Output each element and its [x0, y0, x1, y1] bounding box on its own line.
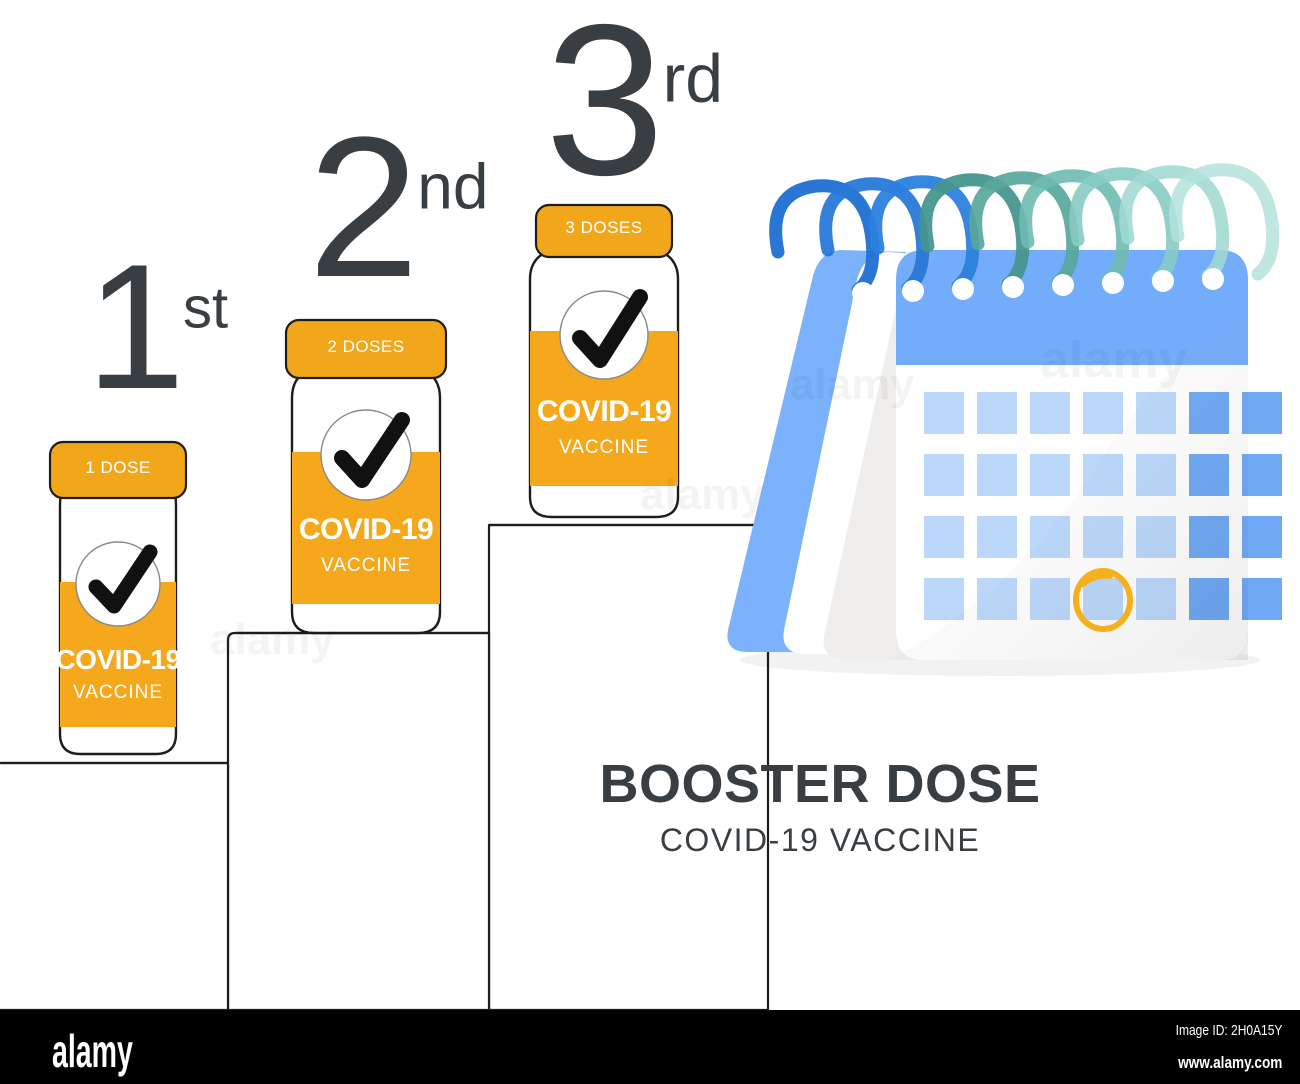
rank-label-2: 2nd: [308, 108, 488, 308]
rank-suffix-3: rd: [663, 40, 723, 116]
calendar-cell: [977, 392, 1017, 434]
page-title: BOOSTER DOSE: [520, 756, 1120, 813]
calendar-cell: [924, 454, 964, 496]
calendar-cell: [977, 516, 1017, 558]
rank-suffix-2: nd: [417, 150, 488, 222]
calendar-cell: [924, 392, 964, 434]
vaccine-vial-1: 1 DOSE COVID-19 VACCINE: [38, 442, 198, 762]
watermark-meta: Image ID: 2H0A15Y www.alamy.com: [1149, 1020, 1282, 1076]
podium-step-2: [228, 633, 489, 1010]
image-id-label: Image ID: 2H0A15Y: [1175, 1020, 1282, 1043]
calendar-cell: [924, 516, 964, 558]
rank-number-1: 1: [86, 227, 183, 426]
podium-step-1: [0, 763, 228, 1010]
headline-block: BOOSTER DOSE COVID-19 VACCINE: [520, 756, 1120, 859]
rank-number-3: 3: [545, 0, 663, 220]
rank-number-2: 2: [308, 96, 417, 319]
alamy-logo: alamy: [52, 1024, 133, 1078]
vial-cap-1: [50, 442, 186, 498]
watermark-footer-bar: alamy Image ID: 2H0A15Y www.alamy.com: [0, 1010, 1300, 1084]
vaccine-vial-2: 2 DOSES COVID-19 VACCINE: [276, 320, 456, 640]
watermark-url: www.alamy.com: [1175, 1049, 1282, 1076]
calendar-cell: [1083, 392, 1123, 434]
calendar-cell: [1030, 454, 1070, 496]
vaccine-vial-3: 3 DOSES COVID-19 VACCINE: [512, 205, 696, 523]
vial-cap-2: [286, 320, 446, 378]
vial-cap-3: [536, 205, 672, 257]
calendar-cell: [1030, 392, 1070, 434]
rank-label-1: 1st: [86, 238, 228, 416]
rank-label-3: 3rd: [545, 0, 723, 207]
calendar-cell: [924, 578, 964, 620]
rank-suffix-1: st: [183, 276, 228, 341]
calendar-icon: [700, 160, 1280, 680]
calendar-cell: [977, 454, 1017, 496]
infographic-canvas: 1st 2nd 3rd 1 DOSE COVID-19: [0, 0, 1300, 1010]
page-subtitle: COVID-19 VACCINE: [520, 822, 1120, 859]
